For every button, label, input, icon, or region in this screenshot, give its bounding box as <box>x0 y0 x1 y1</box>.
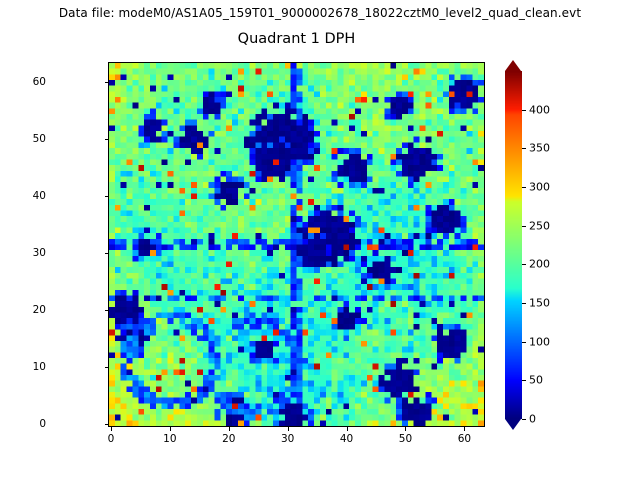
heatmap-axes[interactable] <box>108 62 485 427</box>
colorbar-tick-mark <box>522 342 526 343</box>
colorbar-tick-label: 0 <box>529 413 536 426</box>
x-tick-mark <box>111 427 112 431</box>
colorbar-gradient-image <box>505 71 522 419</box>
x-tick-mark <box>347 427 348 431</box>
data-file-suptitle: Data file: modeM0/AS1A05_159T01_90000026… <box>0 6 640 20</box>
x-tick-mark <box>170 427 171 431</box>
x-tick-label: 20 <box>222 433 235 445</box>
colorbar-extend-min-arrow <box>505 419 521 430</box>
colorbar-tick-mark <box>522 303 526 304</box>
colorbar-tick-label: 400 <box>529 103 550 116</box>
x-tick-label: 50 <box>399 433 412 445</box>
figure-canvas: Data file: modeM0/AS1A05_159T01_90000026… <box>0 0 640 480</box>
y-tick-label: 20 <box>33 304 46 316</box>
x-tick-label: 40 <box>340 433 353 445</box>
y-tick-mark <box>105 139 109 140</box>
colorbar-tick-mark <box>522 419 526 420</box>
colorbar-tick-mark <box>522 110 526 111</box>
dph-heatmap-image[interactable] <box>109 63 484 426</box>
y-tick-label: 30 <box>33 247 46 259</box>
y-tick-mark <box>105 82 109 83</box>
colorbar-tick-label: 250 <box>529 219 550 232</box>
y-tick-mark <box>105 196 109 197</box>
colorbar-tick-label: 200 <box>529 258 550 271</box>
colorbar-gradient <box>505 71 522 419</box>
y-tick-label: 50 <box>33 133 46 145</box>
y-tick-label: 0 <box>39 418 46 430</box>
y-tick-mark <box>105 253 109 254</box>
colorbar-tick-label: 350 <box>529 142 550 155</box>
colorbar-tick-label: 150 <box>529 297 550 310</box>
colorbar-tick-mark <box>522 148 526 149</box>
x-tick-mark <box>229 427 230 431</box>
y-tick-mark <box>105 310 109 311</box>
y-tick-mark <box>105 424 109 425</box>
colorbar-tick-mark <box>522 187 526 188</box>
x-tick-mark <box>288 427 289 431</box>
y-tick-label: 40 <box>33 190 46 202</box>
colorbar-tick-mark <box>522 380 526 381</box>
colorbar-tick-label: 300 <box>529 181 550 194</box>
colorbar-extend-max-arrow <box>505 60 521 71</box>
x-tick-label: 30 <box>281 433 294 445</box>
colorbar-tick-mark <box>522 264 526 265</box>
y-tick-mark <box>105 367 109 368</box>
page-title: Quadrant 1 DPH <box>0 31 593 47</box>
x-tick-label: 60 <box>458 433 471 445</box>
x-tick-mark <box>405 427 406 431</box>
y-tick-label: 60 <box>33 76 46 88</box>
x-tick-label: 0 <box>108 433 115 445</box>
x-tick-label: 10 <box>163 433 176 445</box>
colorbar-tick-label: 100 <box>529 335 550 348</box>
colorbar-tick-label: 50 <box>529 374 543 387</box>
colorbar[interactable] <box>505 60 522 430</box>
y-tick-label: 10 <box>33 361 46 373</box>
x-tick-mark <box>464 427 465 431</box>
colorbar-tick-mark <box>522 226 526 227</box>
